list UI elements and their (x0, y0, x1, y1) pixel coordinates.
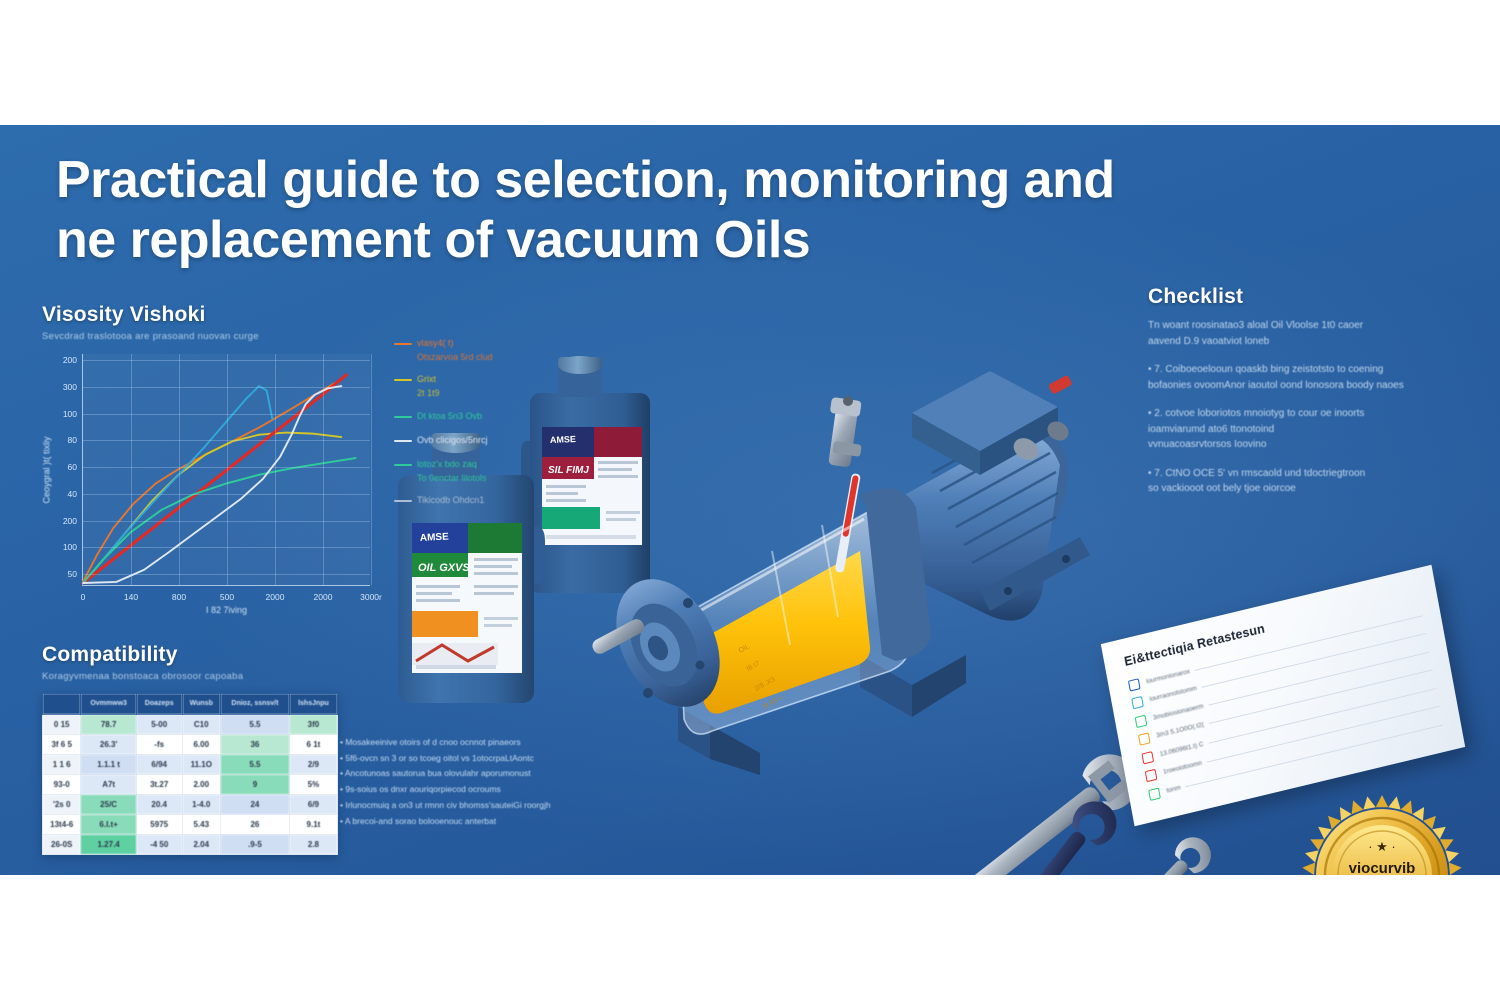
chart-x-tick: 2000 (314, 592, 333, 602)
chart-legend-label: Tikicodb Ohdcn1 (417, 494, 484, 506)
chart-legend-item: Grixt (394, 373, 544, 385)
table-column-header (43, 694, 81, 715)
chart-x-tick: 500 (220, 592, 234, 602)
chart-y-tick: 50 (68, 569, 77, 579)
compatibility-heading: Compatibility (42, 643, 362, 667)
table-row: 0 1578.75-00C105.53f0 (43, 715, 338, 735)
chart-legend-item: Ovb clicigos/5nrcj (394, 434, 544, 446)
chart-x-tick: 3000r (360, 592, 382, 602)
key-point-item: • A brecoi-and sorao bolooenouc anterbat (340, 814, 600, 830)
table-row: 26-0S1.27.4-4 502.04.9-52.8 (43, 835, 338, 855)
table-cell: 78.7 (81, 715, 137, 735)
table-cell: 3f0 (289, 715, 337, 735)
table-column-header: Wunsb (182, 694, 220, 715)
table-row: 93-0A7t3t.272.0095% (43, 775, 338, 795)
title-line-1: Practical guide to selection, monitoring… (56, 151, 1115, 209)
table-cell: 36 (220, 735, 289, 755)
table-header-row: Ovmmww3DoazepsWunsbDnioz, ssnsv/tlshsJnp… (43, 694, 338, 715)
chart-legend-label: Ovb clicigos/5nrcj (417, 434, 488, 446)
chart-legend-swatch (394, 500, 412, 502)
table-cell: 1-4.0 (182, 795, 220, 815)
compatibility-table: Ovmmww3DoazepsWunsbDnioz, ssnsv/tlshsJnp… (42, 693, 338, 855)
compatibility-subtitle: Koragyvmenaa bonstoaca obrosoor capoaba (42, 671, 362, 682)
checkbox-icon[interactable] (1131, 696, 1144, 709)
title-line-2: ne replacement of vacuum Oils (56, 211, 1296, 271)
chart-gridline-v (179, 354, 180, 585)
pump-inlet-fitting (828, 396, 862, 468)
checklist-item[interactable]: • 7. CtNO OCE 5' vn rmscaold und tdoctri… (1148, 466, 1438, 497)
table-row-label: 1 1 6 (43, 755, 81, 775)
chart-gridline-v (131, 354, 132, 585)
maintenance-card[interactable]: Ei&ttectiqia Retastesun lourmonionaroxlo… (1101, 565, 1465, 827)
chart-series-line (83, 386, 272, 583)
badge-tooth (1445, 850, 1459, 862)
table-cell: 5-00 (136, 715, 182, 735)
page-title: Practical guide to selection, monitoring… (56, 151, 1296, 271)
chart-legend-label: Grixt (417, 373, 436, 385)
checklist-intro-line-1: Tn woant roosinatao3 aloal Oil Vloolse 1… (1148, 318, 1438, 334)
table-cell: C10 (182, 715, 220, 735)
table-cell: 24 (220, 795, 289, 815)
quality-badge: · ★ · viocurvib lélcka EXIR'H BHIGRT (1292, 793, 1472, 875)
table-cell: A7t (81, 775, 137, 795)
table-body: 0 1578.75-00C105.53f03f 6 526.3'-fs6.003… (43, 715, 338, 855)
table-cell: 2.04 (182, 835, 220, 855)
table-row-label: '2s 0 (43, 795, 81, 815)
chart-y-tick: 40 (68, 489, 77, 499)
table-row-label: 0 15 (43, 715, 81, 735)
badge-tooth (1449, 863, 1462, 875)
key-point-item: • 5f6-ovcn sn 3 or so tcoeg oitol vs 1ot… (340, 751, 600, 767)
table-row-label: 3f 6 5 (43, 735, 81, 755)
table-cell: 1.1.1 t (81, 755, 137, 775)
table-cell: 6.I.t+ (81, 815, 137, 835)
maintenance-card-rows: lourmonionaroxlourraonolstomm3mobiosiona… (1127, 606, 1444, 804)
checklist-section: Checklist Tn woant roosinatao3 aloal Oil… (1148, 285, 1438, 497)
chart-y-tick: 80 (68, 435, 77, 445)
viscosity-chart-section: Visosity Vishoki Sevcdrad traslotooa are… (42, 303, 442, 586)
table-cell: 5.5 (220, 715, 289, 735)
table-row: 13t4-66.I.t+59755.43269.1t (43, 815, 338, 835)
table-cell: -fs (136, 735, 182, 755)
chart-heading: Visosity Vishoki (42, 303, 442, 327)
table-cell: 11.1O (182, 755, 220, 775)
badge-tooth (1401, 800, 1413, 814)
infographic-root: Practical guide to selection, monitoring… (0, 0, 1500, 1000)
badge-tooth (1352, 800, 1364, 814)
table-cell: -4 50 (136, 835, 182, 855)
badge-line-1: viocurvib (1349, 860, 1416, 875)
key-point-item: • Irlunocmuiq a on3 ut rmnn civ bhomss's… (340, 798, 600, 814)
table-cell: 5% (289, 775, 337, 795)
chart-x-tick: 800 (172, 592, 186, 602)
checklist-intro-line-2: aavend D.9 vaoatviot loneb (1148, 334, 1438, 350)
chart-legend-swatch (394, 343, 412, 345)
chart-legend-item: vlasy4( t) (394, 337, 544, 349)
checkbox-icon[interactable] (1141, 751, 1154, 764)
chart-gridline-v (275, 354, 276, 585)
indicator-red (1048, 375, 1073, 395)
chart-subtitle: Sevcdrad traslotooa are prasoand nuovan … (42, 331, 442, 342)
chart-legend-sublabel: Otszarvoa 5rd clud (417, 351, 544, 363)
key-point-item: • Mosakeeinive otoirs of d cnoo ocnnot p… (340, 735, 600, 751)
key-point-item: • Ancotunoas sautorua bua olovulahr apor… (340, 766, 600, 782)
table-row-label: 26-0S (43, 835, 81, 855)
checklist-items: • 7. Coiboeoelooun qoaskb bing zeistotst… (1148, 362, 1438, 497)
table-row: 3f 6 526.3'-fs6.00366 1t (43, 735, 338, 755)
chart-legend-sublabel: 2t 1t9 (417, 387, 544, 399)
chart-series-line (83, 375, 346, 583)
chart-gridline-v (371, 354, 372, 585)
table-cell: 1.27.4 (81, 835, 137, 855)
badge-tooth (1305, 850, 1319, 862)
table-column-header: lshsJnpu (289, 694, 337, 715)
chart-legend-swatch (394, 440, 412, 442)
badge-stars: · ★ · (1368, 839, 1396, 854)
chart-x-axis-label: I 82 7iving (206, 605, 247, 615)
table-cell: 6/94 (136, 755, 182, 775)
chart-y-tick: 100 (63, 409, 77, 419)
badge-svg: · ★ · viocurvib lélcka EXIR'H BHIGRT (1292, 793, 1472, 875)
chart-y-tick: 200 (63, 355, 77, 365)
checkbox-icon[interactable] (1128, 678, 1141, 691)
chart-y-tick: 60 (68, 462, 77, 472)
chart-legend-label: vlasy4( t) (417, 337, 454, 349)
table-cell: 2.8 (289, 835, 337, 855)
chart-legend-swatch (394, 379, 412, 381)
chart-gridline-v (323, 354, 324, 585)
maintenance-card-row-label: tonm (1166, 784, 1181, 794)
table-cell: 5975 (136, 815, 182, 835)
chart-x-tick: 2000 (266, 592, 285, 602)
chart-legend-sublabel: To 0enctar lilotols (417, 472, 544, 484)
checkbox-icon[interactable] (1148, 787, 1161, 800)
chart-legend-label: lotoz'x bdo zaq (417, 458, 477, 470)
table-cell: 6/9 (289, 795, 337, 815)
chart-y-axis-label: Ceoygral )t( tixliy (42, 436, 52, 503)
checklist-heading: Checklist (1148, 285, 1438, 309)
table-cell: 9.1t (289, 815, 337, 835)
table-cell: 25/C (81, 795, 137, 815)
table-cell: 9 (220, 775, 289, 795)
table-cell: 26 (220, 815, 289, 835)
chart-legend-item: lotoz'x bdo zaq (394, 458, 544, 470)
chart-legend-swatch (394, 464, 412, 466)
table-cell: 20.4 (136, 795, 182, 815)
table-row: '2s 025/C20.41-4.0246/9 (43, 795, 338, 815)
checklist-item[interactable]: • 2. cotvoe loboriotos mnoiotyg to cour … (1148, 406, 1438, 453)
table-cell: 6 1t (289, 735, 337, 755)
table-row-label: 13t4-6 (43, 815, 81, 835)
checkbox-icon[interactable] (1135, 714, 1148, 727)
table-row-label: 93-0 (43, 775, 81, 795)
chart-series-line (83, 433, 341, 583)
table-cell: 5.43 (182, 815, 220, 835)
table-column-header: Dnioz, ssnsv/t (220, 694, 289, 715)
table-column-header: Ovmmww3 (81, 694, 137, 715)
compatibility-section: Compatibility Koragyvmenaa bonstoaca obr… (42, 643, 362, 855)
chart-x-tick: 140 (124, 592, 138, 602)
table-row: 1 1 61.1.1 t6/9411.1O5.52/9 (43, 755, 338, 775)
chart-legend-item: Dt ktoa 5n3 Ovb (394, 410, 544, 422)
table-cell: .9-5 (220, 835, 289, 855)
chart-gridline-v (227, 354, 228, 585)
table-cell: 26.3' (81, 735, 137, 755)
chart-legend-swatch (394, 416, 412, 418)
badge-tooth (1363, 796, 1375, 809)
chart-legend-item: Tikicodb Ohdcn1 (394, 494, 544, 506)
table-cell: 2.00 (182, 775, 220, 795)
table-cell: 2/9 (289, 755, 337, 775)
chart-plot-area: Ceoygral )t( tixliy I 82 7iving 20030010… (82, 354, 370, 586)
checklist-item[interactable]: • 7. Coiboeoelooun qoaskb bing zeistotst… (1148, 362, 1438, 393)
table-cell: 6.00 (182, 735, 220, 755)
badge-tooth (1302, 863, 1315, 875)
badge-tooth (1376, 795, 1389, 807)
poster-canvas: Practical guide to selection, monitoring… (0, 125, 1500, 875)
chart-legend-label: Dt ktoa 5n3 Ovb (417, 410, 482, 422)
chart-x-tick: 0 (81, 592, 86, 602)
key-point-item: • 9s-soius os dnxr aouriqorpiecod ocroum… (340, 782, 600, 798)
checkbox-icon[interactable] (1145, 769, 1158, 782)
chart-y-tick: 100 (63, 542, 77, 552)
table-cell: 5.5 (220, 755, 289, 775)
badge-tooth (1388, 796, 1400, 809)
key-points-list: • Mosakeeinive otoirs of d cnoo ocnnot p… (340, 735, 600, 829)
chart-legend: vlasy4( t)Otszarvoa 5rd cludGrixt2t 1t9D… (394, 337, 544, 518)
chart-y-tick: 200 (63, 516, 77, 526)
table-cell: 3t.27 (136, 775, 182, 795)
table-column-header: Doazeps (136, 694, 182, 715)
checkbox-icon[interactable] (1138, 733, 1151, 746)
chart-y-tick: 300 (63, 382, 77, 392)
